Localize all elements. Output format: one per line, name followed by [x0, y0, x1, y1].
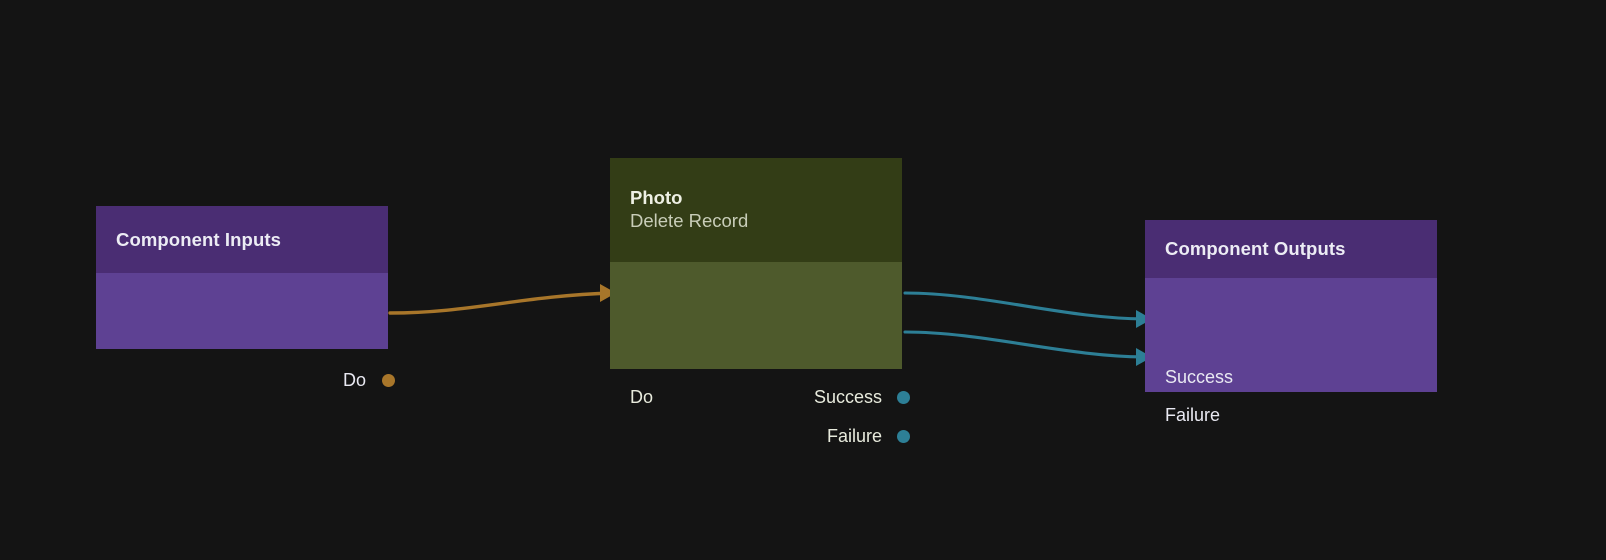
node-subtitle: Delete Record — [630, 209, 882, 233]
port-row-input-do[interactable]: Do — [630, 386, 653, 408]
node-body: Success Failure — [1145, 278, 1437, 392]
port-row-input-success[interactable]: Success — [1165, 366, 1233, 388]
node-header[interactable]: Component Inputs — [96, 206, 388, 273]
port-row-input-failure[interactable]: Failure — [1165, 404, 1220, 426]
port-dot-output-success[interactable] — [897, 391, 910, 404]
port-label: Do — [343, 370, 366, 391]
port-label: Failure — [827, 426, 882, 447]
connection-wire — [390, 293, 612, 313]
node-header[interactable]: Photo Delete Record — [610, 158, 902, 262]
connection-wire — [905, 293, 1148, 319]
node-body: Do Success Failure — [610, 262, 902, 369]
connection-photo-failure-to-outputs-failure[interactable] — [905, 332, 1152, 366]
port-row-output-do[interactable]: Do — [343, 369, 366, 391]
port-label: Success — [1165, 367, 1233, 388]
port-dot-output-do[interactable] — [382, 374, 395, 387]
node-title: Photo — [630, 187, 882, 209]
node-component-outputs[interactable]: Component Outputs Success Failure — [1145, 220, 1437, 392]
node-title: Component Inputs — [116, 229, 368, 251]
connection-inputs-do-to-photo-do[interactable] — [390, 284, 616, 313]
node-header[interactable]: Component Outputs — [1145, 220, 1437, 278]
connection-photo-success-to-outputs-success[interactable] — [905, 293, 1152, 328]
port-dot-output-failure[interactable] — [897, 430, 910, 443]
port-row-output-failure[interactable]: Failure — [827, 425, 882, 447]
port-label: Do — [630, 387, 653, 408]
node-photo-delete-record[interactable]: Photo Delete Record Do Success Failure — [610, 158, 902, 369]
node-title: Component Outputs — [1165, 238, 1417, 260]
node-component-inputs[interactable]: Component Inputs Do — [96, 206, 388, 349]
port-label: Success — [814, 387, 882, 408]
connection-wire — [905, 332, 1148, 357]
port-row-output-success[interactable]: Success — [814, 386, 882, 408]
node-body: Do — [96, 273, 388, 349]
port-label: Failure — [1165, 405, 1220, 426]
node-graph-canvas[interactable]: Component Inputs Do Photo Delete Record … — [0, 0, 1606, 560]
